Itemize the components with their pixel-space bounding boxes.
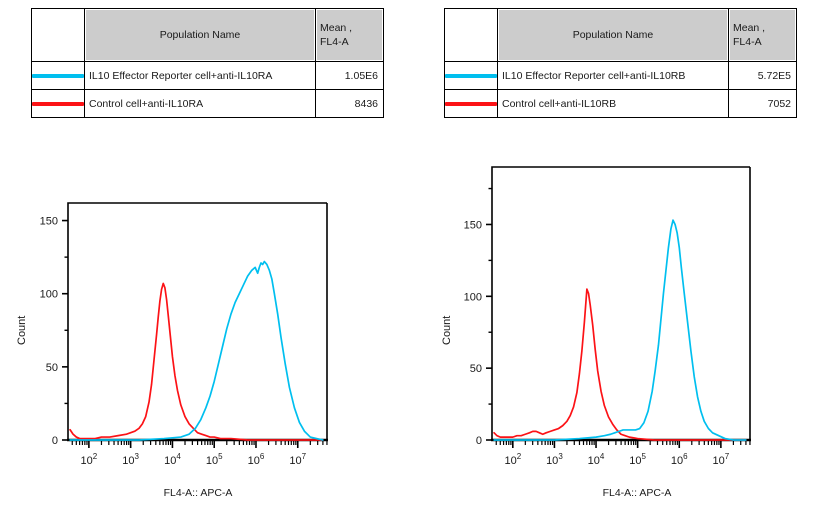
legend-header-swatch — [445, 9, 498, 62]
legend-swatch-cell — [32, 62, 85, 90]
svg-text:103: 103 — [546, 452, 563, 467]
legend-table-il10ra: Population Name Mean , FL4-A IL10 Effect… — [31, 8, 384, 118]
legend-header-population: Population Name — [85, 9, 316, 62]
legend-color-swatch — [445, 74, 497, 78]
svg-text:0: 0 — [52, 435, 58, 447]
legend-color-swatch — [32, 74, 84, 78]
svg-text:50: 50 — [470, 363, 482, 375]
legend-table-il10rb: Population Name Mean , FL4-A IL10 Effect… — [444, 8, 797, 118]
svg-text:105: 105 — [629, 452, 646, 467]
svg-text:150: 150 — [464, 219, 482, 231]
histogram-plot-il10rb: 050100150102103104105106107 — [417, 142, 817, 482]
table-row: Control cell+anti-IL10RB 7052 — [445, 90, 797, 118]
legend-header-swatch — [32, 9, 85, 62]
histogram-svg: 050100150102103104105106107 — [417, 142, 817, 482]
svg-text:100: 100 — [464, 291, 482, 303]
svg-text:106: 106 — [671, 452, 688, 467]
legend-swatch-cell — [445, 90, 498, 118]
panel-il10rb: Population Name Mean , FL4-A IL10 Effect… — [417, 0, 833, 522]
svg-text:107: 107 — [289, 452, 306, 467]
legend-header-mean: Mean , FL4-A — [729, 9, 797, 62]
legend-color-swatch — [445, 102, 497, 106]
table-row: IL10 Effector Reporter cell+anti-IL10RA … — [32, 62, 384, 90]
legend-swatch-cell — [445, 62, 498, 90]
x-axis-label: FL4-A:: APC-A — [68, 487, 328, 499]
svg-text:103: 103 — [122, 452, 139, 467]
legend-swatch-cell — [32, 90, 85, 118]
legend-header-mean-line2: FL4-A — [733, 35, 796, 49]
legend-mean-value: 8436 — [316, 90, 384, 118]
legend-population-name: Control cell+anti-IL10RB — [498, 90, 729, 118]
panel-il10ra: Population Name Mean , FL4-A IL10 Effect… — [0, 0, 416, 522]
svg-text:50: 50 — [46, 362, 58, 374]
x-axis-label: FL4-A:: APC-A — [507, 487, 767, 499]
svg-text:100: 100 — [40, 289, 58, 301]
svg-text:102: 102 — [81, 452, 98, 467]
legend-header-mean-line1: Mean , — [733, 21, 796, 35]
legend-header-row: Population Name Mean , FL4-A — [445, 9, 797, 62]
legend-population-name: IL10 Effector Reporter cell+anti-IL10RA — [85, 62, 316, 90]
histogram-plot-il10ra: 050100150102103104105106107 — [0, 160, 400, 480]
svg-text:104: 104 — [588, 452, 605, 467]
svg-text:0: 0 — [476, 435, 482, 447]
legend-header-population: Population Name — [498, 9, 729, 62]
svg-text:105: 105 — [206, 452, 223, 467]
svg-text:106: 106 — [248, 452, 265, 467]
svg-text:107: 107 — [713, 452, 730, 467]
y-axis-label: Count — [16, 316, 28, 345]
legend-header-row: Population Name Mean , FL4-A — [32, 9, 384, 62]
legend-header-mean: Mean , FL4-A — [316, 9, 384, 62]
legend-color-swatch — [32, 102, 84, 106]
legend-mean-value: 7052 — [729, 90, 797, 118]
table-row: Control cell+anti-IL10RA 8436 — [32, 90, 384, 118]
table-row: IL10 Effector Reporter cell+anti-IL10RB … — [445, 62, 797, 90]
legend-mean-value: 1.05E6 — [316, 62, 384, 90]
legend-mean-value: 5.72E5 — [729, 62, 797, 90]
svg-text:104: 104 — [164, 452, 181, 467]
y-axis-label: Count — [441, 316, 453, 345]
histogram-svg: 050100150102103104105106107 — [0, 160, 400, 480]
legend-population-name: IL10 Effector Reporter cell+anti-IL10RB — [498, 62, 729, 90]
legend-header-mean-line2: FL4-A — [320, 35, 383, 49]
legend-header-mean-line1: Mean , — [320, 21, 383, 35]
legend-population-name: Control cell+anti-IL10RA — [85, 90, 316, 118]
svg-text:102: 102 — [504, 452, 521, 467]
svg-text:150: 150 — [40, 216, 58, 228]
